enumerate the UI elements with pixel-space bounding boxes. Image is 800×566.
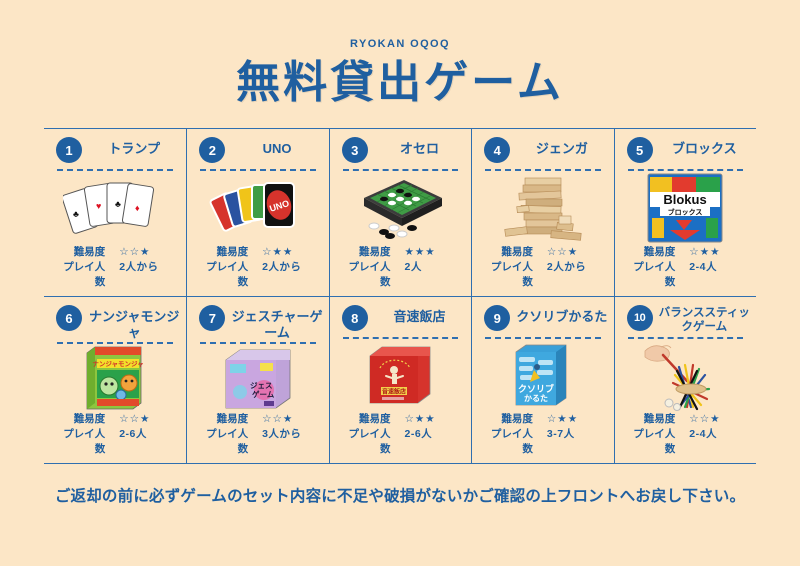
game-card-9[interactable]: 9 クソリブかるた xyxy=(471,296,613,463)
game-grid: 1 トランプ ♣ ♥ ♣ ♦ xyxy=(44,128,756,464)
game-number-badge: 6 xyxy=(56,305,82,331)
players-value: 3-7人 xyxy=(547,427,601,457)
players-label: プレイ人数 xyxy=(627,260,675,290)
difficulty-label: 難易度 xyxy=(57,412,105,427)
card-header: 10 バランススティックゲーム xyxy=(621,305,750,335)
card-header: 4 ジェンガ xyxy=(478,137,607,167)
svg-text:ゲーム: ゲーム xyxy=(252,389,275,399)
game-number-badge: 3 xyxy=(342,137,368,163)
card-stats: 難易度 ☆☆★ プレイ人数 3人から xyxy=(193,412,322,458)
game-title: トランプ xyxy=(88,137,180,156)
difficulty-value: ☆☆★ xyxy=(262,412,316,427)
game-number-badge: 4 xyxy=(484,137,510,163)
players-value: 2-6人 xyxy=(119,427,173,457)
game-title: バランススティックゲーム xyxy=(659,305,750,334)
players-label: プレイ人数 xyxy=(57,427,105,457)
game-card-3[interactable]: 3 オセロ xyxy=(329,129,471,296)
svg-text:ジェス: ジェス xyxy=(250,381,273,390)
players-label: プレイ人数 xyxy=(627,427,675,457)
players-value: 2-4人 xyxy=(689,260,743,290)
game-number-badge: 10 xyxy=(627,305,653,331)
game-card-2[interactable]: 2 UNO UNO 難易度 xyxy=(186,129,328,296)
difficulty-value: ☆★★ xyxy=(404,412,458,427)
difficulty-label: 難易度 xyxy=(342,245,390,260)
game-title: ジェスチャーゲーム xyxy=(231,305,322,340)
svg-text:ナンジャモンジャ: ナンジャモンジャ xyxy=(93,360,144,368)
gesture-game-box-icon: ジェス ゲーム xyxy=(193,344,322,412)
playing-cards-icon: ♣ ♥ ♣ ♦ xyxy=(50,171,180,244)
difficulty-value: ★★★ xyxy=(404,245,458,260)
card-stats: 難易度 ☆☆★ プレイ人数 2-4人 xyxy=(621,412,750,458)
kusorib-karuta-box-icon: クソリブ かるた xyxy=(478,339,607,411)
brand-label: RYOKAN OQOQ xyxy=(350,38,450,50)
players-label: プレイ人数 xyxy=(200,260,248,290)
difficulty-value: ☆★★ xyxy=(547,412,601,427)
svg-text:クソリブ: クソリブ xyxy=(518,383,554,394)
game-number-badge: 1 xyxy=(56,137,82,163)
players-label: プレイ人数 xyxy=(485,260,533,290)
card-header: 6 ナンジャモンジャ xyxy=(50,305,180,340)
svg-text:音速飯店: 音速飯店 xyxy=(382,388,406,396)
game-card-4[interactable]: 4 ジェンガ xyxy=(471,129,613,296)
svg-text:Blokus: Blokus xyxy=(664,192,707,207)
card-stats: 難易度 ☆★★ プレイ人数 2-6人 xyxy=(336,412,465,458)
players-value: 2人から xyxy=(547,260,601,290)
game-card-6[interactable]: 6 ナンジャモンジャ ナンジャモンジャ xyxy=(44,296,186,463)
players-value: 2人から xyxy=(262,260,316,290)
card-stats: 難易度 ☆★★ プレイ人数 3-7人 xyxy=(478,412,607,458)
svg-text:♥: ♥ xyxy=(96,201,101,211)
game-card-5[interactable]: 5 ブロックス Blokus ブロックス xyxy=(614,129,756,296)
svg-text:♣: ♣ xyxy=(115,199,121,209)
jenga-tower-icon xyxy=(478,171,607,244)
card-header: 3 オセロ xyxy=(336,137,465,167)
game-title: ブロックス xyxy=(659,137,750,156)
game-number-badge: 5 xyxy=(627,137,653,163)
card-stats: 難易度 ☆☆★ プレイ人数 2人から xyxy=(478,245,607,291)
difficulty-label: 難易度 xyxy=(57,245,105,260)
card-stats: 難易度 ☆☆★ プレイ人数 2人から xyxy=(50,245,180,291)
card-header: 1 トランプ xyxy=(50,137,180,167)
difficulty-value: ☆☆★ xyxy=(119,245,173,260)
difficulty-label: 難易度 xyxy=(200,245,248,260)
uno-cards-icon: UNO xyxy=(193,171,322,244)
svg-text:かるた: かるた xyxy=(524,393,548,403)
difficulty-label: 難易度 xyxy=(485,412,533,427)
card-header: 8 音速飯店 xyxy=(336,305,465,335)
balance-stick-game-icon xyxy=(621,339,750,411)
players-label: プレイ人数 xyxy=(342,260,390,290)
players-label: プレイ人数 xyxy=(342,427,390,457)
game-card-7[interactable]: 7 ジェスチャーゲーム ジェス ゲーム xyxy=(186,296,328,463)
difficulty-value: ☆★★ xyxy=(262,245,316,260)
game-number-badge: 8 xyxy=(342,305,368,331)
poster-page: RYOKAN OQOQ 無料貸出ゲーム 1 トランプ ♣ ♥ xyxy=(0,0,800,566)
difficulty-value: ☆☆★ xyxy=(689,412,743,427)
card-header: 5 ブロックス xyxy=(621,137,750,167)
game-title: オセロ xyxy=(374,137,465,156)
return-notice: ご返却の前に必ずゲームのセット内容に不足や破損がないかご確認の上フロントへお戻し… xyxy=(55,484,745,506)
svg-text:♦: ♦ xyxy=(135,203,140,213)
svg-text:ブロックス: ブロックス xyxy=(668,207,703,216)
blokus-box-icon: Blokus ブロックス xyxy=(621,171,750,244)
players-label: プレイ人数 xyxy=(485,427,533,457)
players-value: 3人から xyxy=(262,427,316,457)
game-card-10[interactable]: 10 バランススティックゲーム xyxy=(614,296,756,463)
nanjamonja-box-icon: ナンジャモンジャ xyxy=(50,344,180,412)
game-title: UNO xyxy=(231,137,322,156)
difficulty-label: 難易度 xyxy=(342,412,390,427)
card-stats: 難易度 ☆★★ プレイ人数 2-4人 xyxy=(621,245,750,291)
difficulty-label: 難易度 xyxy=(627,412,675,427)
game-number-badge: 7 xyxy=(199,305,225,331)
game-title: 音速飯店 xyxy=(374,305,465,324)
card-stats: 難易度 ★★★ プレイ人数 2人 xyxy=(336,245,465,291)
difficulty-value: ☆★★ xyxy=(689,245,743,260)
game-title: ジェンガ xyxy=(516,137,607,156)
game-card-8[interactable]: 8 音速飯店 音速飯店 xyxy=(329,296,471,463)
players-value: 2-6人 xyxy=(404,427,458,457)
difficulty-value: ☆☆★ xyxy=(119,412,173,427)
card-header: 2 UNO xyxy=(193,137,322,167)
players-value: 2人 xyxy=(404,260,458,290)
svg-text:♣: ♣ xyxy=(73,209,79,219)
card-stats: 難易度 ☆☆★ プレイ人数 2-6人 xyxy=(50,412,180,458)
game-number-badge: 9 xyxy=(484,305,510,331)
game-card-1[interactable]: 1 トランプ ♣ ♥ ♣ ♦ xyxy=(44,129,186,296)
game-title: クソリブかるた xyxy=(516,305,607,324)
page-title: 無料貸出ゲーム xyxy=(236,60,564,106)
difficulty-label: 難易度 xyxy=(485,245,533,260)
players-value: 2-4人 xyxy=(689,427,743,457)
difficulty-label: 難易度 xyxy=(200,412,248,427)
card-header: 7 ジェスチャーゲーム xyxy=(193,305,322,340)
card-stats: 難易度 ☆★★ プレイ人数 2人から xyxy=(193,245,322,291)
game-title: ナンジャモンジャ xyxy=(88,305,180,340)
difficulty-label: 難易度 xyxy=(627,245,675,260)
players-value: 2人から xyxy=(119,260,173,290)
othello-board-icon xyxy=(336,171,465,244)
players-label: プレイ人数 xyxy=(57,260,105,290)
difficulty-value: ☆☆★ xyxy=(547,245,601,260)
players-label: プレイ人数 xyxy=(200,427,248,457)
game-number-badge: 2 xyxy=(199,137,225,163)
card-header: 9 クソリブかるた xyxy=(478,305,607,335)
onsoku-hanten-box-icon: 音速飯店 xyxy=(336,339,465,411)
